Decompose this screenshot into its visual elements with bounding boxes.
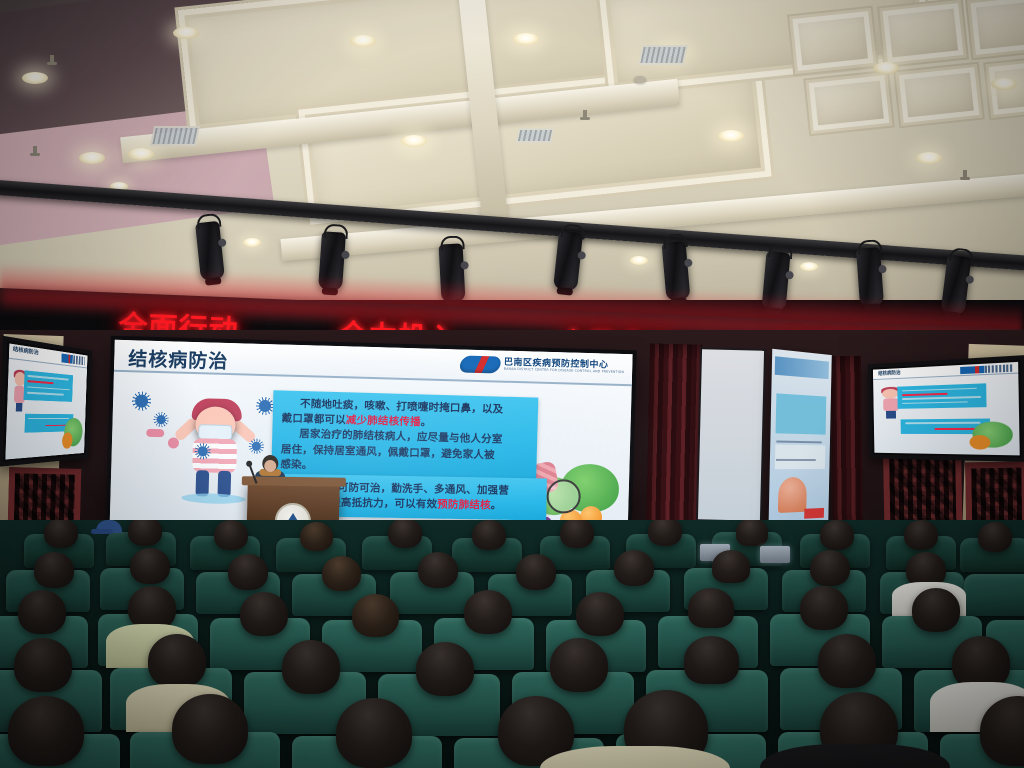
- attendee-head: [148, 634, 206, 688]
- attendee-head: [516, 554, 556, 590]
- ac-vent: [515, 128, 554, 143]
- attendee-head: [322, 556, 361, 591]
- recessed-downlight: [630, 256, 648, 265]
- sprinkler-head-icon: [50, 55, 54, 64]
- box-bottom-highlight: 预防肺结核: [437, 499, 491, 512]
- recessed-downlight: [991, 78, 1017, 90]
- attendee-head: [614, 550, 654, 586]
- recessed-downlight: [243, 238, 261, 247]
- smoke-detector-icon: [634, 76, 646, 83]
- attendee-head: [550, 638, 608, 692]
- recessed-downlight: [350, 35, 376, 47]
- attendee-head: [18, 590, 66, 634]
- cdc-logo-icon: [458, 356, 503, 374]
- attendee-head: [214, 520, 248, 550]
- seat: [964, 574, 1024, 616]
- box-top-highlight: 减少肺结核传播: [346, 415, 421, 429]
- left-wall-monitor: 结核病防治: [0, 336, 92, 467]
- slide-text-box-top: 不随地吐痰，咳嗽、打喷嚏时掩口鼻，以及 戴口罩都可以减少肺结核传播。 居家治疗的…: [271, 390, 538, 485]
- recessed-downlight: [513, 33, 539, 45]
- attendee-head: [240, 592, 288, 636]
- box-top-line2b: 。: [421, 417, 432, 429]
- bacteria-icon: [198, 446, 208, 456]
- attendee-head: [172, 694, 248, 764]
- bacteria-icon: [259, 400, 271, 412]
- attendee-head: [14, 638, 72, 692]
- attendee-head: [130, 548, 170, 584]
- recessed-downlight: [916, 152, 942, 164]
- slide-title: 结核病防治: [128, 344, 229, 374]
- box-top-line4: 居住，保持居室通风，佩戴口罩，避免家人被: [281, 443, 495, 461]
- attendee-head: [818, 634, 876, 688]
- attendee-head: [282, 640, 340, 694]
- attendee-head: [464, 590, 512, 634]
- attendee-head: [128, 520, 162, 546]
- attendee-head: [684, 636, 739, 684]
- recessed-downlight: [22, 72, 48, 84]
- attendee-head: [712, 550, 750, 583]
- rollup-poster-banner: [768, 349, 831, 532]
- attendee-head: [904, 520, 938, 550]
- ceiling-coffer-panel: [787, 6, 879, 77]
- sprinkler-head-icon: [963, 170, 967, 179]
- box-top-line3: 居家治疗的肺结核病人，应尽量与他人分室: [299, 428, 503, 446]
- attendee-head: [688, 588, 734, 628]
- cdc-name-en: BANAN DISTRICT CENTER FOR DISEASE CONTRO…: [504, 368, 624, 375]
- attendee-head: [648, 520, 682, 546]
- sprinkler-head-icon: [33, 146, 37, 155]
- recessed-downlight: [401, 135, 427, 147]
- attendee-head: [352, 594, 399, 637]
- ceiling-coffer-panel: [803, 70, 895, 137]
- bacteria-icon: [135, 394, 148, 407]
- attendee-head: [576, 592, 624, 636]
- sprinkler-head-icon: [583, 110, 587, 119]
- attendee-head: [228, 554, 268, 590]
- attendee-head: [8, 696, 84, 766]
- attendee-head: [336, 698, 412, 768]
- audience-seating-area: [0, 520, 1024, 768]
- attendee-cap: [96, 520, 122, 533]
- recessed-downlight: [173, 27, 199, 39]
- attendee-head: [472, 520, 506, 550]
- main-projection-screen: 结核病防治 巴南区疾病预防控制中心 BANAN DISTRICT CENTER …: [109, 340, 632, 549]
- right-monitor-title: 结核病防治: [878, 369, 901, 377]
- attendee-head: [418, 552, 458, 588]
- attendee-head: [388, 520, 422, 548]
- recessed-downlight: [800, 262, 818, 271]
- attendee-head: [300, 522, 333, 551]
- recessed-downlight: [128, 148, 154, 160]
- presentation-slide: 结核病防治 巴南区疾病预防控制中心 BANAN DISTRICT CENTER …: [109, 340, 632, 549]
- recessed-downlight: [718, 130, 744, 142]
- recessed-downlight: [873, 62, 899, 74]
- box-top-line2a: 戴口罩都可以: [282, 413, 347, 427]
- ac-vent: [150, 126, 200, 146]
- attendee-head: [560, 520, 594, 548]
- attendee-head: [800, 586, 848, 630]
- box-bottom-line2b: 。: [491, 500, 502, 512]
- bacteria-icon: [156, 415, 165, 424]
- attendee-head: [978, 522, 1012, 552]
- attendee-head: [736, 520, 768, 546]
- auditorium-scene: 全面行动 全力投入 全民参与 终结结核 结核病防治 巴南区疾病预防控: [0, 0, 1024, 768]
- ceiling-coffer-panel: [893, 62, 985, 129]
- right-monitor-slide: 结核病防治: [873, 362, 1020, 456]
- left-monitor-slide: 结核病防治: [5, 343, 87, 459]
- ceiling-coffer-panel: [965, 0, 1024, 60]
- attendee-head: [416, 642, 474, 696]
- right-wall-monitor: 结核病防治: [868, 355, 1024, 462]
- attendee-laptop: [760, 546, 790, 563]
- attendee-head: [912, 588, 960, 632]
- recessed-downlight: [79, 152, 105, 164]
- virus-icon: [146, 429, 164, 437]
- auxiliary-display-panel: [698, 349, 764, 520]
- stage-curtain: [831, 356, 863, 532]
- attendee-head: [810, 550, 850, 586]
- attendee-head: [820, 520, 854, 550]
- bacteria-icon: [252, 442, 261, 451]
- attendee-head: [44, 520, 78, 548]
- attendee-head: [34, 552, 74, 588]
- ceiling-coffer-panel: [877, 0, 969, 68]
- ac-vent: [638, 45, 688, 65]
- stage-curtain: [646, 343, 702, 539]
